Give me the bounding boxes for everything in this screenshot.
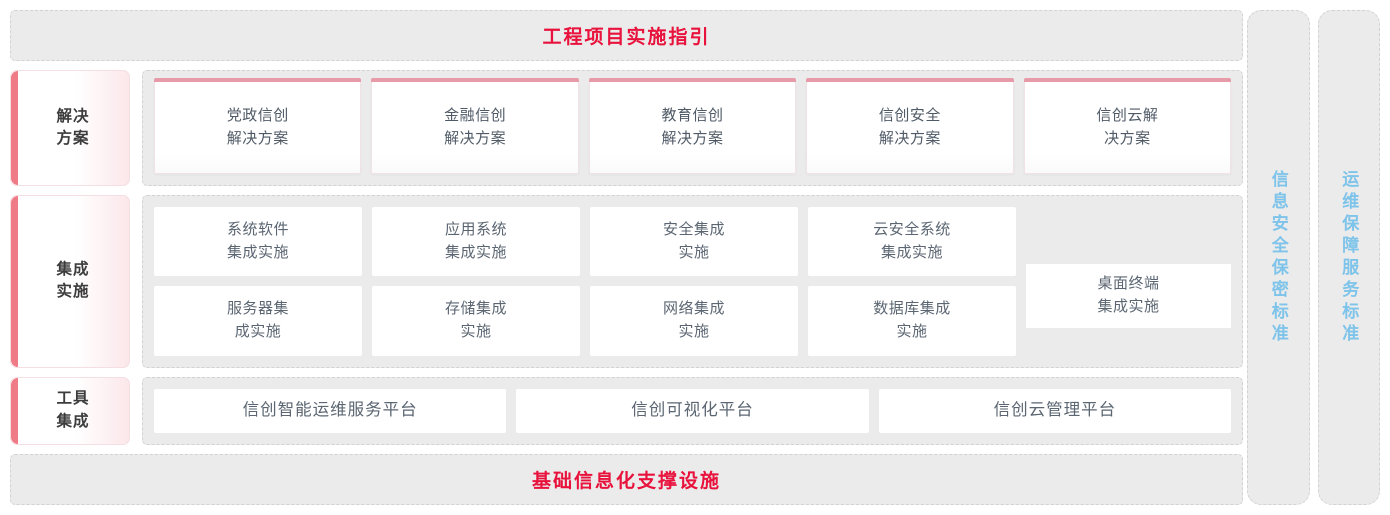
integration-card-system-software[interactable]: 系统软件 集成实施 [154,207,362,276]
header-banner: 工程项目实施指引 [10,10,1243,61]
solution-card-cloud-line1: 信创云解 [1096,107,1158,124]
implementation-guide-diagram: 工程项目实施指引 解决 方案 党政信创 解决方案 [0,0,1390,515]
page-title: 工程项目实施指引 [542,22,710,49]
solution-card-grid: 党政信创 解决方案 金融信创 解决方案 教育信创 解决方案 [154,82,1231,173]
integration-card-security-line2: 实施 [678,244,709,261]
band-label-solutions-line2: 方案 [56,130,89,147]
solution-card-finance-line1: 金融信创 [444,107,506,124]
footer-title: 基础信息化支撑设施 [532,466,721,493]
standards-column-information-security[interactable]: 信息安全保密标准 [1247,10,1310,505]
integration-card-storage[interactable]: 存储集成 实施 [372,286,580,355]
integration-card-server-line2: 成实施 [235,323,282,340]
tool-card-cloud-management-platform[interactable]: 信创云管理平台 [879,389,1231,433]
tool-card-grid: 信创智能运维服务平台 信创可视化平台 信创云管理平台 [154,389,1231,433]
solution-card-cloud-line2: 决方案 [1104,130,1151,147]
band-panel-solutions: 党政信创 解决方案 金融信创 解决方案 教育信创 解决方案 [142,70,1243,185]
solution-card-education[interactable]: 教育信创 解决方案 [589,82,796,173]
band-label-tools-text: 工具 集成 [50,388,89,433]
footer-banner: 基础信息化支撑设施 [10,454,1243,505]
solution-card-education-line1: 教育信创 [662,107,724,124]
solution-card-finance[interactable]: 金融信创 解决方案 [371,82,578,173]
integration-card-server[interactable]: 服务器集 成实施 [154,286,362,355]
integration-card-application-system[interactable]: 应用系统 集成实施 [372,207,580,276]
solution-card-government-line2: 解决方案 [227,130,289,147]
integration-card-server-line1: 服务器集 [227,300,289,317]
solution-card-finance-line2: 解决方案 [444,130,506,147]
band-label-integration-line2: 实施 [56,283,89,300]
integration-card-database-line1: 数据库集成 [873,300,951,317]
band-label-solutions-line1: 解决 [56,108,89,125]
band-panel-integration: 系统软件 集成实施 应用系统 集成实施 安全集成 [142,195,1243,368]
standards-column-operations-service[interactable]: 运维保障服务标准 [1318,10,1381,505]
band-label-integration[interactable]: 集成 实施 [10,195,130,368]
solution-card-education-line2: 解决方案 [662,130,724,147]
solution-card-government-line1: 党政信创 [227,107,289,124]
integration-card-system-software-line2: 集成实施 [227,244,289,261]
integration-card-desktop-terminal-line1: 桌面终端 [1097,275,1159,292]
band-tools: 工具 集成 信创智能运维服务平台 信创可视化平台 信创云管理平台 [10,377,1243,445]
integration-card-desktop-terminal[interactable]: 桌面终端 集成实施 [1026,264,1231,328]
integration-card-security-line1: 安全集成 [663,221,725,238]
band-integration: 集成 实施 系统软件 集成实施 [10,195,1243,368]
band-label-integration-text: 集成 实施 [50,259,89,304]
main-column: 工程项目实施指引 解决 方案 党政信创 解决方案 [0,0,1243,515]
band-label-integration-line1: 集成 [56,261,89,278]
standards-column-information-security-label: 信息安全保密标准 [1270,170,1287,346]
integration-card-system-software-line1: 系统软件 [227,221,289,238]
band-label-solutions[interactable]: 解决 方案 [10,70,130,185]
integration-card-network-line1: 网络集成 [663,300,725,317]
integration-card-database-line2: 实施 [896,323,927,340]
band-solutions: 解决 方案 党政信创 解决方案 金融信创 解决方案 [10,70,1243,185]
integration-card-desktop-terminal-line2: 集成实施 [1097,298,1159,315]
integration-row-1: 系统软件 集成实施 应用系统 集成实施 安全集成 [154,207,1016,276]
integration-card-cloud-security-line2: 集成实施 [881,244,943,261]
integration-card-cloud-security-line1: 云安全系统 [873,221,951,238]
standards-columns: 信息安全保密标准 运维保障服务标准 [1243,0,1390,515]
integration-card-application-system-line2: 集成实施 [445,244,507,261]
band-label-tools-line2: 集成 [56,413,89,430]
band-panel-tools: 信创智能运维服务平台 信创可视化平台 信创云管理平台 [142,377,1243,445]
tool-card-aiops-platform-label: 信创智能运维服务平台 [243,398,418,423]
band-label-tools[interactable]: 工具 集成 [10,377,130,445]
solution-card-security[interactable]: 信创安全 解决方案 [806,82,1013,173]
band-label-tools-line1: 工具 [56,390,89,407]
integration-card-database[interactable]: 数据库集成 实施 [808,286,1016,355]
tool-card-cloud-management-platform-label: 信创云管理平台 [994,398,1117,423]
tool-card-visualization-platform[interactable]: 信创可视化平台 [516,389,868,433]
integration-card-cloud-security[interactable]: 云安全系统 集成实施 [808,207,1016,276]
solution-card-security-line2: 解决方案 [879,130,941,147]
solution-card-security-line1: 信创安全 [879,107,941,124]
integration-card-storage-line1: 存储集成 [445,300,507,317]
integration-card-network-line2: 实施 [678,323,709,340]
integration-tall-card-wrapper: 桌面终端 集成实施 [1026,207,1231,356]
integration-card-network[interactable]: 网络集成 实施 [590,286,798,355]
integration-card-grid: 系统软件 集成实施 应用系统 集成实施 安全集成 [154,207,1016,356]
standards-column-operations-service-label: 运维保障服务标准 [1340,170,1357,346]
integration-row-2: 服务器集 成实施 存储集成 实施 网络集成 [154,286,1016,355]
solution-card-government[interactable]: 党政信创 解决方案 [154,82,361,173]
band-label-solutions-text: 解决 方案 [50,106,89,151]
tool-card-aiops-platform[interactable]: 信创智能运维服务平台 [154,389,506,433]
solution-card-cloud[interactable]: 信创云解 决方案 [1024,82,1231,173]
tool-card-visualization-platform-label: 信创可视化平台 [631,398,754,423]
integration-card-security[interactable]: 安全集成 实施 [590,207,798,276]
integration-card-application-system-line1: 应用系统 [445,221,507,238]
integration-card-storage-line2: 实施 [460,323,491,340]
